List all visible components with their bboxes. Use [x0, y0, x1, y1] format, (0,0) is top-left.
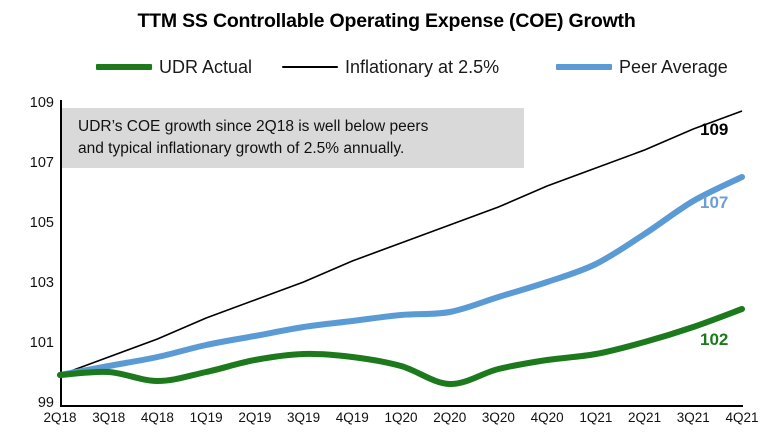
series-line-udr-actual: [60, 309, 742, 384]
endpoint-label-peer-average: 107: [700, 193, 728, 213]
endpoint-label-inflationary: 109: [700, 120, 728, 140]
endpoint-label-udr-actual: 102: [700, 330, 728, 350]
annotation-callout: UDR’s COE growth since 2Q18 is well belo…: [62, 108, 524, 168]
chart-container: TTM SS Controllable Operating Expense (C…: [0, 0, 773, 443]
annotation-line-1: UDR’s COE growth since 2Q18 is well belo…: [78, 116, 508, 138]
annotation-line-2: and typical inflationary growth of 2.5% …: [78, 138, 508, 160]
plot-area: [0, 0, 773, 443]
